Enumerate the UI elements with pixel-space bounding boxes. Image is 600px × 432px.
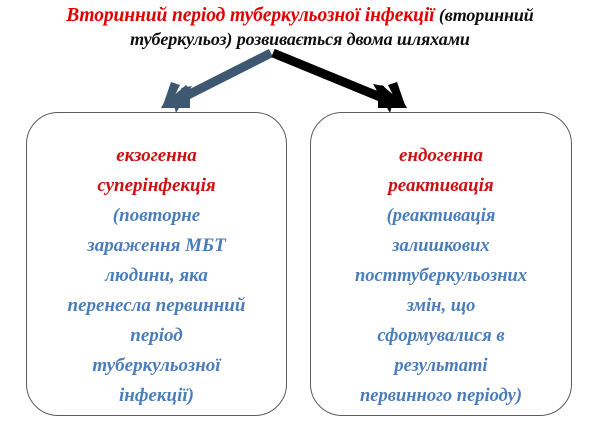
box-right-heading: ендогенна реактивація [321, 141, 561, 201]
title-red-segment: Вторинний період туберкульозної інфекції [66, 5, 434, 26]
slide-canvas: Вторинний період туберкульозної інфекції… [0, 0, 600, 432]
box-left-body: (повторне зараження МБТ людини, яка пере… [37, 201, 276, 411]
page-title: Вторинний період туберкульозної інфекції… [22, 4, 578, 52]
left-arrow-icon [160, 53, 271, 113]
box-left-heading: екзогенна суперінфекція [37, 141, 276, 201]
box-right-body: (реактивація залишкових посттуберкульозн… [321, 201, 561, 411]
right-arrow-icon [273, 53, 407, 113]
box-endogenous-reactivation[interactable]: ендогенна реактивація (реактивація залиш… [310, 112, 572, 416]
box-exogenous-superinfection[interactable]: екзогенна суперінфекція (повторне зараже… [26, 112, 287, 416]
